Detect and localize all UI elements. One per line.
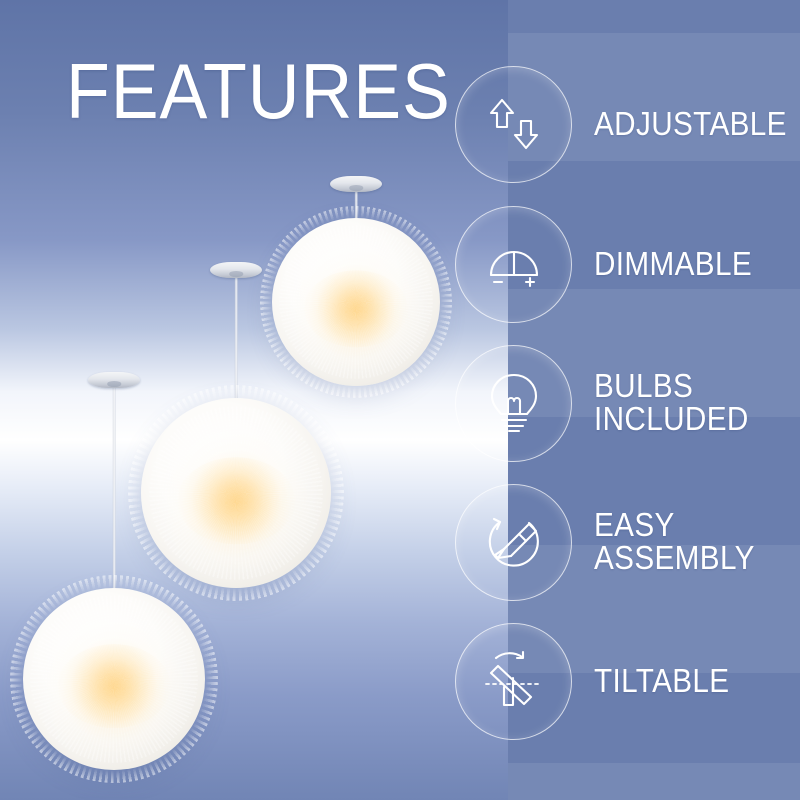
lamp-feather-shade [23, 588, 205, 770]
light-bulb-icon [455, 345, 572, 462]
up-down-arrows-icon [455, 66, 572, 183]
feature-label: DIMMABLE [594, 248, 752, 281]
feature-label: EASY ASSEMBLY [594, 509, 755, 574]
dimmer-dial-icon [455, 206, 572, 323]
lamp-glow [58, 644, 171, 728]
feature-label: ADJUSTABLE [594, 108, 787, 141]
feature-row[interactable]: BULBS INCLUDED [455, 344, 800, 462]
page-title: FEATURES [66, 52, 451, 130]
feature-row[interactable]: EASY ASSEMBLY [455, 483, 800, 601]
feature-label: TILTABLE [594, 665, 729, 698]
feature-label: BULBS INCLUDED [594, 370, 749, 435]
feature-row[interactable]: DIMMABLE [455, 205, 800, 323]
features-infographic: FEATURES ADJUSTABLE DIMMABLE BULBS INCLU… [0, 0, 800, 800]
feature-row[interactable]: TILTABLE [455, 622, 800, 740]
ceiling-canopy [88, 372, 140, 388]
screwdriver-rotate-icon [455, 484, 572, 601]
feature-row[interactable]: ADJUSTABLE [455, 65, 800, 183]
tilt-fixture-icon [455, 623, 572, 740]
